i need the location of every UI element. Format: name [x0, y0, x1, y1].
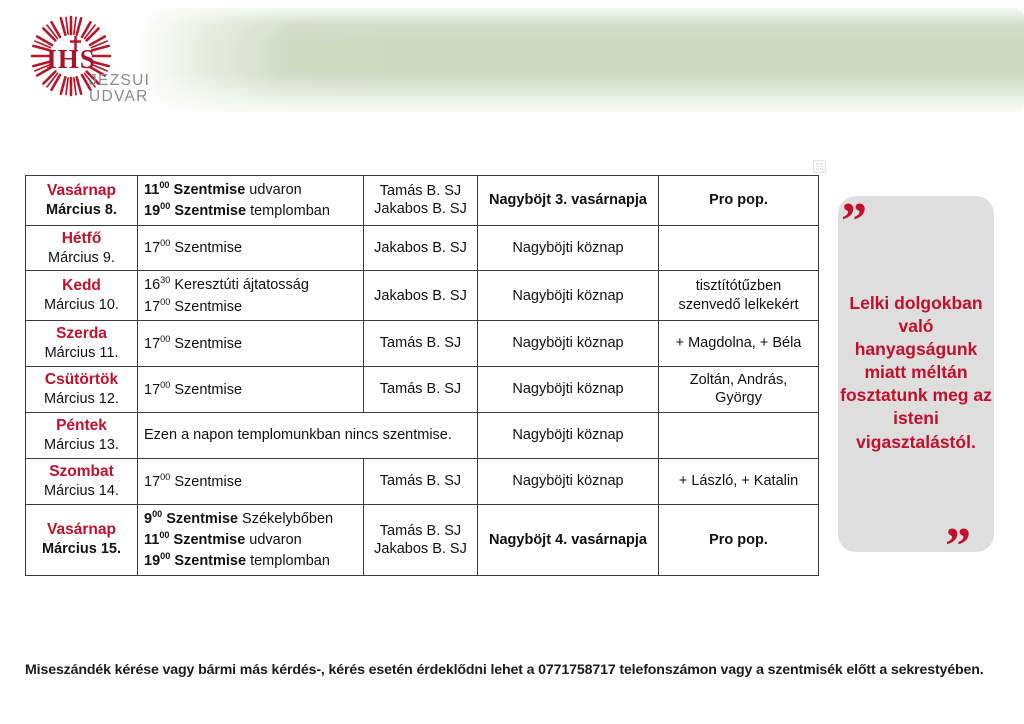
program-place: udvaron — [245, 532, 301, 548]
program-place: Székelybőben — [238, 511, 333, 527]
day-name: Péntek — [32, 416, 131, 436]
intention-line: + László, + Katalin — [665, 472, 812, 490]
table-row: CsütörtökMárcius 12.1700 SzentmiseTamás … — [26, 366, 819, 412]
program-line: 1700 Szentmise — [144, 379, 357, 400]
celebrant-name: Jakabos B. SJ — [370, 287, 471, 305]
roof — [714, 27, 873, 42]
window — [811, 56, 827, 71]
table-resize-handle-icon[interactable] — [813, 160, 826, 173]
program-hour: 17 — [144, 474, 160, 490]
table-row: VasárnapMárcius 8.1100 Szentmise udvaron… — [26, 176, 819, 226]
program-line: 1700 Szentmise — [144, 333, 357, 354]
schedule-table: VasárnapMárcius 8.1100 Szentmise udvaron… — [25, 175, 819, 576]
program-minutes: 00 — [160, 297, 170, 307]
celebrant-cell: Tamás B. SJJakabos B. SJ — [364, 504, 478, 575]
handle-dot — [820, 168, 823, 170]
celebrant-name: Tamás B. SJ — [370, 522, 471, 540]
program-minutes: 00 — [160, 201, 170, 211]
celebrant-cell: Jakabos B. SJ — [364, 271, 478, 321]
program-cell: 1700 Szentmise — [138, 225, 364, 271]
day-name: Vasárnap — [32, 520, 131, 540]
intention-line: György — [665, 389, 812, 407]
liturgy-cell: Nagyböjt 4. vasárnapja — [478, 504, 659, 575]
tree — [280, 8, 422, 113]
program-line: 1700 Szentmise — [144, 296, 357, 317]
intention-line: Pro pop. — [665, 531, 812, 549]
table-row: HétfőMárcius 9.1700 SzentmiseJakabos B. … — [26, 225, 819, 271]
window — [776, 56, 792, 71]
window — [740, 56, 756, 71]
liturgy-cell: Nagyböjti köznap — [478, 271, 659, 321]
program-hour: 11 — [144, 182, 159, 198]
celebrant-name: Jakabos B. SJ — [370, 540, 471, 558]
day-date: Március 10. — [32, 296, 131, 315]
day-date: Március 13. — [32, 436, 131, 455]
tree — [900, 16, 1024, 113]
program-line: 1900 Szentmise templomban — [144, 200, 357, 221]
intention-cell: Pro pop. — [659, 504, 819, 575]
tree — [395, 10, 528, 113]
program-service: Szentmise — [174, 182, 246, 198]
table-row: SzerdaMárcius 11.1700 SzentmiseTamás B. … — [26, 320, 819, 366]
intention-cell: + Magdolna, + Béla — [659, 320, 819, 366]
quote-open-mark-icon: ” — [841, 196, 866, 248]
day-cell: SzombatMárcius 14. — [26, 458, 138, 504]
day-name: Szombat — [32, 462, 131, 482]
day-cell: HétfőMárcius 9. — [26, 225, 138, 271]
liturgy-cell: Nagyböjti köznap — [478, 458, 659, 504]
program-line: 1100 Szentmise udvaron — [144, 179, 357, 200]
brick-pillar — [355, 35, 426, 113]
program-hour: 17 — [144, 336, 160, 352]
schedule-body: VasárnapMárcius 8.1100 Szentmise udvaron… — [26, 176, 819, 576]
celebrant-name: Tamás B. SJ — [370, 472, 471, 490]
program-line: 1700 Szentmise — [144, 237, 357, 258]
day-name: Vasárnap — [32, 181, 131, 201]
program-note: Ezen a napon templomunkban nincs szentmi… — [144, 426, 471, 445]
pillar-cap — [344, 32, 438, 38]
program-cell: 900 Szentmise Székelybőben1100 Szentmise… — [138, 504, 364, 575]
program-place: templomban — [246, 553, 330, 569]
program-service: Szentmise — [174, 240, 242, 256]
celebrant-name: Jakabos B. SJ — [370, 239, 471, 257]
program-minutes: 00 — [159, 180, 169, 190]
program-cell: 1630 Keresztúti ájtatosság1700 Szentmise — [138, 271, 364, 321]
quote-close-mark-icon: ” — [945, 521, 970, 573]
program-service: Keresztúti ájtatosság — [174, 277, 309, 293]
intention-line: szenvedő lelkekért — [665, 296, 812, 314]
program-minutes: 00 — [159, 530, 169, 540]
liturgy-cell: Nagyböjti köznap — [478, 320, 659, 366]
day-cell: PéntekMárcius 13. — [26, 412, 138, 458]
program-line: 900 Szentmise Székelybőben — [144, 508, 357, 529]
program-service: Szentmise — [174, 532, 246, 548]
table-row: SzombatMárcius 14.1700 SzentmiseTamás B.… — [26, 458, 819, 504]
day-cell: SzerdaMárcius 11. — [26, 320, 138, 366]
chimney — [807, 20, 825, 31]
program-service: Szentmise — [174, 203, 246, 219]
celebrant-name: Tamás B. SJ — [370, 334, 471, 352]
program-minutes: 00 — [160, 380, 170, 390]
program-hour: 17 — [144, 240, 160, 256]
day-cell: CsütörtökMárcius 12. — [26, 366, 138, 412]
celebrant-cell: Tamás B. SJJakabos B. SJ — [364, 176, 478, 226]
celebrant-cell: Tamás B. SJ — [364, 366, 478, 412]
program-hour: 9 — [144, 511, 152, 527]
program-service: Szentmise — [174, 382, 242, 398]
day-date: Március 9. — [32, 249, 131, 268]
window — [776, 86, 792, 101]
handle-dot — [816, 163, 819, 165]
day-name: Csütörtök — [32, 370, 131, 390]
intention-line: Pro pop. — [665, 191, 812, 209]
contact-note: Miseszándék kérése vagy bármi más kérdés… — [25, 662, 1015, 678]
program-place: udvaron — [245, 182, 301, 198]
celebrant-cell: Tamás B. SJ — [364, 458, 478, 504]
program-cell: 1700 Szentmise — [138, 458, 364, 504]
liturgy-cell: Nagyböjti köznap — [478, 412, 659, 458]
celebrant-name: Tamás B. SJ — [370, 380, 471, 398]
tree — [758, 10, 909, 113]
day-name: Hétfő — [32, 229, 131, 249]
logo-monogram: IHS — [46, 44, 96, 74]
program-cell: 1700 Szentmise — [138, 320, 364, 366]
program-cell: Ezen a napon templomunkban nincs szentmi… — [138, 412, 478, 458]
intention-line: tisztítótűzben — [665, 277, 812, 295]
program-service: Szentmise — [174, 299, 242, 315]
sky — [138, 8, 1024, 58]
intention-cell: Zoltán, András,György — [659, 366, 819, 412]
day-name: Szerda — [32, 324, 131, 344]
program-minutes: 00 — [160, 472, 170, 482]
day-cell: KeddMárcius 10. — [26, 271, 138, 321]
intention-line: + Magdolna, + Béla — [665, 334, 812, 352]
tree — [156, 12, 315, 113]
logo-line-2: UDVAR — [89, 88, 149, 105]
day-date: Március 14. — [32, 482, 131, 501]
intention-cell: Pro pop. — [659, 176, 819, 226]
banner-photo — [138, 8, 1024, 113]
quote-text: Lelki dolgokban való hanyagságunk miatt … — [840, 292, 992, 454]
intention-cell — [659, 225, 819, 271]
celebrant-name: Tamás B. SJ — [370, 182, 471, 200]
program-hour: 11 — [144, 532, 159, 548]
intention-cell: tisztítótűzbenszenvedő lelkekért — [659, 271, 819, 321]
program-hour: 19 — [144, 553, 160, 569]
intention-line: Zoltán, András, — [665, 371, 812, 389]
program-line: 1900 Szentmise templomban — [144, 550, 357, 571]
logo-line-1: JEZSUITA — [89, 72, 150, 89]
ihs-sunburst-logo: IHS JEZSUITA UDVAR — [30, 12, 150, 112]
handle-dot — [820, 163, 823, 165]
program-service: Szentmise — [174, 553, 246, 569]
day-name: Kedd — [32, 276, 131, 296]
program-cell: 1700 Szentmise — [138, 366, 364, 412]
day-cell: VasárnapMárcius 8. — [26, 176, 138, 226]
program-service: Szentmise — [174, 474, 242, 490]
program-minutes: 00 — [160, 334, 170, 344]
logo-svg: IHS JEZSUITA UDVAR — [30, 12, 150, 112]
intention-cell — [659, 412, 819, 458]
program-cell: 1100 Szentmise udvaron1900 Szentmise tem… — [138, 176, 364, 226]
program-minutes: 00 — [160, 551, 170, 561]
day-date: Március 8. — [32, 201, 131, 220]
liturgy-cell: Nagyböjt 3. vasárnapja — [478, 176, 659, 226]
side-building — [723, 40, 865, 114]
mass-schedule: VasárnapMárcius 8.1100 Szentmise udvaron… — [25, 175, 818, 576]
banner-photo-scene — [138, 8, 1024, 113]
liturgy-cell: Nagyböjti köznap — [478, 366, 659, 412]
program-hour: 19 — [144, 203, 160, 219]
window — [740, 86, 756, 101]
handle-dot — [820, 166, 823, 168]
table-row: KeddMárcius 10.1630 Keresztúti ájtatossá… — [26, 271, 819, 321]
program-line: 1700 Szentmise — [144, 471, 357, 492]
program-line: 1100 Szentmise udvaron — [144, 529, 357, 550]
day-date: Március 11. — [32, 344, 131, 363]
table-row: PéntekMárcius 13.Ezen a napon templomunk… — [26, 412, 819, 458]
handle-dot — [816, 168, 819, 170]
handle-dot — [816, 166, 819, 168]
program-service: Szentmise — [166, 511, 238, 527]
program-hour: 17 — [144, 382, 160, 398]
day-date: Március 12. — [32, 390, 131, 409]
celebrant-cell: Jakabos B. SJ — [364, 225, 478, 271]
day-cell: VasárnapMárcius 15. — [26, 504, 138, 575]
program-line: 1630 Keresztúti ájtatosság — [144, 274, 357, 295]
program-hour: 17 — [144, 299, 160, 315]
intention-cell: + László, + Katalin — [659, 458, 819, 504]
page-header: IHS JEZSUITA UDVAR — [0, 0, 1024, 125]
program-service: Szentmise — [174, 336, 242, 352]
celebrant-name: Jakabos B. SJ — [370, 200, 471, 218]
day-date: Március 15. — [32, 540, 131, 559]
program-place: templomban — [246, 203, 330, 219]
church-wall — [608, 14, 732, 113]
liturgy-cell: Nagyböjti köznap — [478, 225, 659, 271]
celebrant-cell: Tamás B. SJ — [364, 320, 478, 366]
program-minutes: 00 — [152, 509, 162, 519]
table-row: VasárnapMárcius 15.900 Szentmise Székely… — [26, 504, 819, 575]
program-minutes: 00 — [160, 238, 170, 248]
church-doorway — [639, 69, 685, 113]
program-hour: 16 — [144, 277, 160, 293]
program-minutes: 30 — [160, 275, 170, 285]
